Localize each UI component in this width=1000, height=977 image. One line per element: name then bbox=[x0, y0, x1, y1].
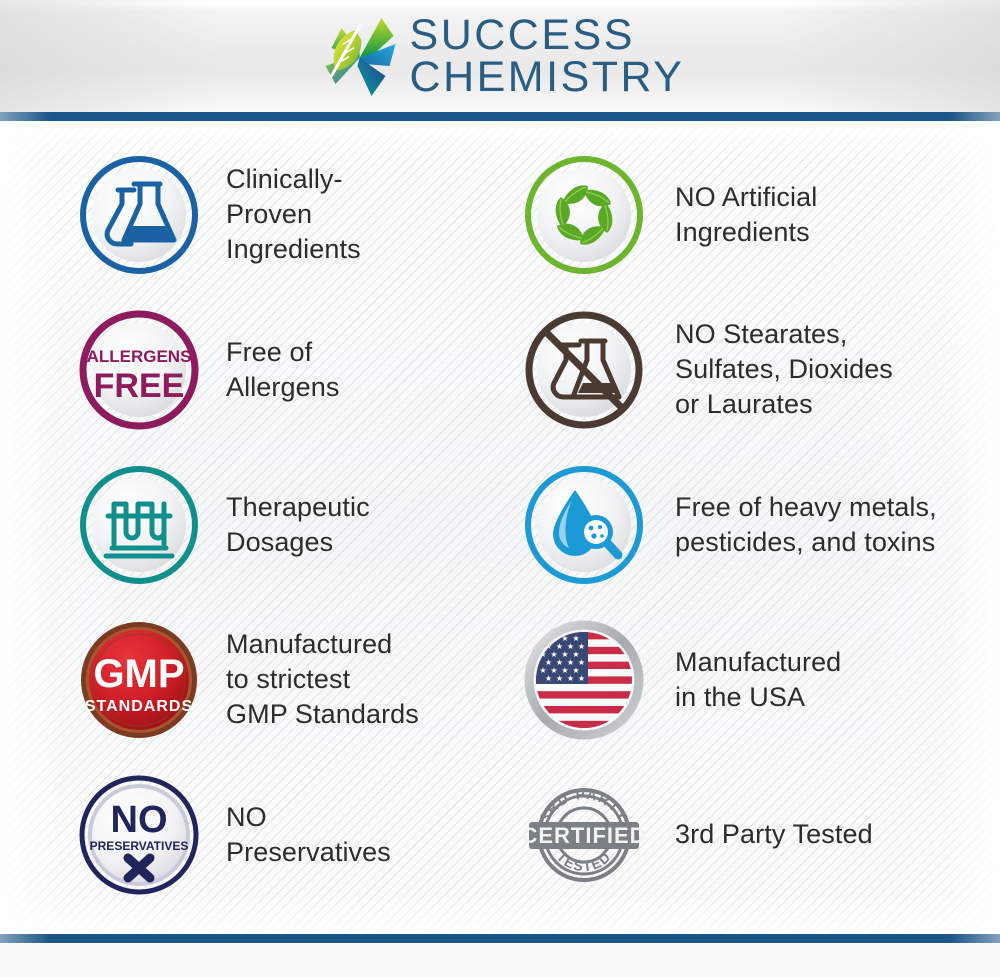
feature-label: NO Stearates, Sulfates, Dioxides or Laur… bbox=[675, 317, 893, 421]
leaf-star-logo-icon bbox=[316, 14, 400, 100]
features-column-left: Clinically- Proven Ingredients ALLERGENS bbox=[78, 121, 528, 934]
brand-logo: SUCCESS CHEMISTRY bbox=[316, 14, 685, 100]
brand-name-line2: CHEMISTRY bbox=[410, 57, 685, 99]
feature-row-made-in-usa: ★★★★ ★★★★ ★★★★ ★★★★ ★★★★ ★★★★ Manufactur… bbox=[523, 602, 973, 757]
divider-bottom bbox=[0, 934, 1000, 943]
feature-row-no-preservatives: NO PRESERVATIVES NO Preservatives bbox=[78, 757, 528, 912]
feature-label: Free of Allergens bbox=[226, 335, 339, 405]
footer-strip bbox=[0, 943, 1000, 977]
badge-text-standards: STANDARDS bbox=[85, 698, 193, 715]
badge-text-preservatives: PRESERVATIVES bbox=[90, 839, 189, 853]
allergens-free-badge-icon: ALLERGENS FREE bbox=[78, 309, 200, 431]
divider-top bbox=[0, 112, 1000, 121]
stamp-text-bottom: TESTED bbox=[554, 848, 614, 874]
stamp-text-top: 3RD PARTY bbox=[536, 785, 631, 824]
feature-label: Manufactured to strictest GMP Standards bbox=[226, 627, 419, 731]
features-column-right: NO Artificial Ingredients bbox=[523, 121, 973, 934]
feature-row-clinically-proven: Clinically- Proven Ingredients bbox=[78, 137, 528, 292]
flasks-icon bbox=[78, 154, 200, 276]
no-flasks-prohibited-icon bbox=[523, 309, 645, 431]
feature-label: 3rd Party Tested bbox=[675, 817, 873, 852]
feature-row-free-heavy-metals: Free of heavy metals, pesticides, and to… bbox=[523, 447, 973, 602]
water-drop-magnifier-icon bbox=[523, 464, 645, 586]
test-tube-rack-icon bbox=[78, 464, 200, 586]
feature-label: Therapeutic Dosages bbox=[226, 490, 370, 560]
feature-row-no-artificial: NO Artificial Ingredients bbox=[523, 137, 973, 292]
brand-name-line1: SUCCESS bbox=[410, 15, 685, 57]
feature-row-third-party-tested: 3RD PARTY TESTED CERTIFIED 3rd Party Tes… bbox=[523, 757, 973, 912]
feature-label: Manufactured in the USA bbox=[675, 645, 841, 715]
feature-row-therapeutic-dosages: Therapeutic Dosages bbox=[78, 447, 528, 602]
badge-text-allergens: ALLERGENS bbox=[87, 347, 192, 366]
feature-label: NO Preservatives bbox=[226, 800, 391, 870]
badge-text-free: FREE bbox=[94, 367, 185, 405]
infographic-page: SUCCESS CHEMISTRY bbox=[0, 0, 1000, 977]
badge-text-no: NO bbox=[111, 799, 168, 841]
badge-text-gmp: GMP bbox=[93, 652, 184, 696]
gmp-standards-seal-icon: GMP STANDARDS bbox=[78, 619, 200, 741]
usa-flag-icon: ★★★★ ★★★★ ★★★★ ★★★★ ★★★★ ★★★★ bbox=[523, 619, 645, 741]
feature-label: NO Artificial Ingredients bbox=[675, 180, 817, 250]
feature-label: Clinically- Proven Ingredients bbox=[226, 162, 361, 266]
third-party-certified-stamp-icon: 3RD PARTY TESTED CERTIFIED bbox=[523, 774, 645, 896]
green-leaves-swirl-icon bbox=[523, 154, 645, 276]
no-preservatives-icon: NO PRESERVATIVES bbox=[78, 774, 200, 896]
brand-header: SUCCESS CHEMISTRY bbox=[0, 0, 1000, 112]
features-grid: Clinically- Proven Ingredients ALLERGENS bbox=[0, 121, 1000, 934]
feature-row-no-stearates: NO Stearates, Sulfates, Dioxides or Laur… bbox=[523, 292, 973, 447]
feature-label: Free of heavy metals, pesticides, and to… bbox=[675, 490, 937, 560]
brand-wordmark: SUCCESS CHEMISTRY bbox=[410, 15, 685, 98]
stamp-text-certified: CERTIFIED bbox=[523, 823, 645, 848]
feature-row-gmp-standards: GMP STANDARDS Manufactured to strictest … bbox=[78, 602, 528, 757]
feature-row-allergen-free: ALLERGENS FREE Free of Allergens bbox=[78, 292, 528, 447]
